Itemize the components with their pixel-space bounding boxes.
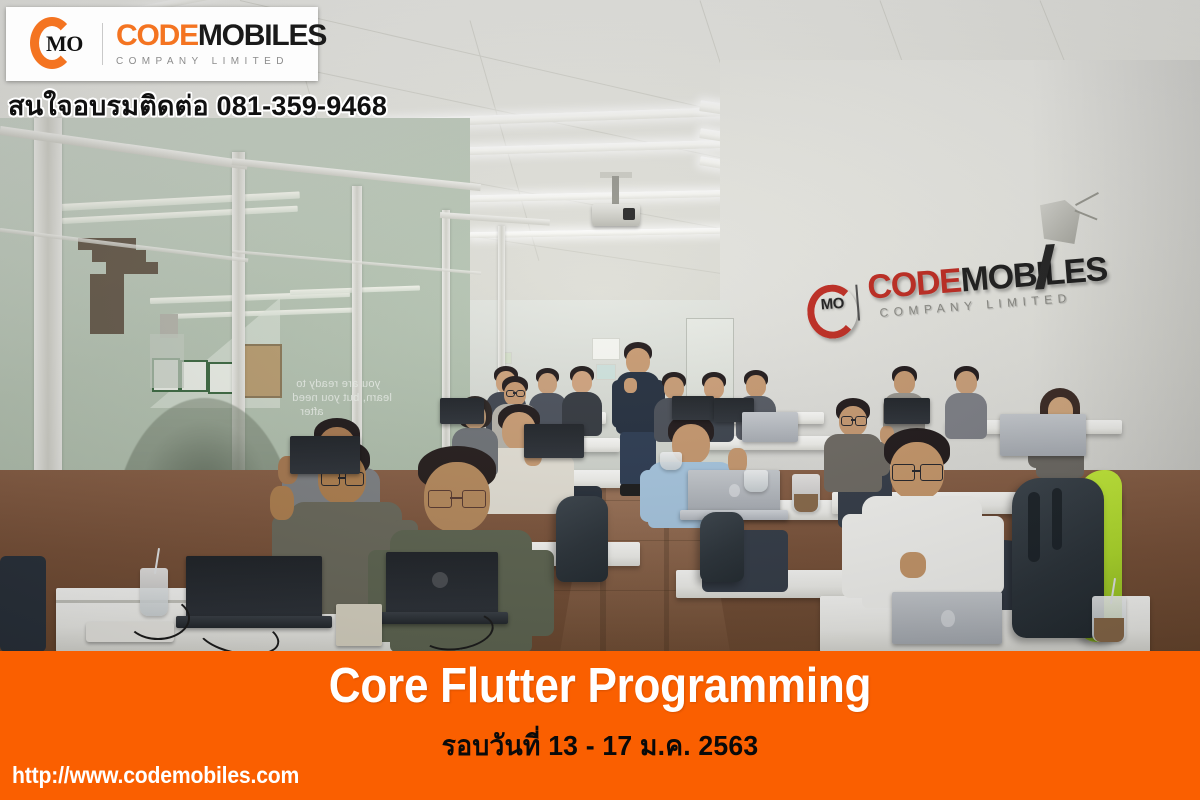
cup-small	[744, 470, 768, 492]
dell-badge-icon	[432, 572, 448, 588]
wall-notice-1	[592, 338, 620, 360]
logo-divider	[102, 23, 103, 65]
drink-liquid	[794, 494, 818, 512]
backpack-aisle-2	[700, 512, 744, 582]
laptop	[186, 556, 322, 618]
backpack-strap	[1052, 488, 1062, 550]
power-adapter	[336, 604, 382, 646]
chair	[0, 556, 46, 652]
logo-name-mobiles: MOBILES	[198, 19, 326, 52]
laptop	[742, 412, 798, 442]
cmo-monogram-icon: MO	[18, 13, 96, 75]
logo-wordmark: CODEMOBILES COMPANY LIMITED	[116, 21, 326, 67]
apple-logo-icon	[941, 610, 955, 627]
laptop	[1000, 414, 1086, 456]
laptop	[440, 398, 484, 424]
wall-notice-2	[596, 364, 616, 380]
apple-logo-icon	[729, 484, 740, 497]
laptop	[672, 396, 714, 420]
logo-name-code: CODE	[116, 19, 198, 52]
laptop	[884, 398, 930, 424]
projector-mount	[612, 176, 619, 206]
logo-name: CODEMOBILES	[116, 21, 326, 51]
title-banner: Core Flutter Programming รอบวันที่ 13 - …	[0, 651, 1200, 800]
glass-decal-text-3: after	[300, 406, 324, 419]
course-title: Core Flutter Programming	[60, 662, 1140, 712]
cup-small	[660, 452, 682, 470]
projector	[592, 204, 640, 226]
cmo-mo-text: MO	[46, 31, 83, 57]
company-logo-box: MO CODEMOBILES COMPANY LIMITED	[6, 7, 318, 81]
laptop	[524, 424, 584, 458]
backpack-aisle	[556, 496, 608, 582]
backpack-strap	[1028, 492, 1040, 562]
website-url[interactable]: http://www.codemobiles.com	[12, 762, 299, 789]
logo-subtitle: COMPANY LIMITED	[116, 56, 326, 67]
laptop	[290, 436, 360, 474]
glass-decal-text-1: you are ready to	[296, 378, 380, 391]
wall-logo-monogram: MO	[820, 295, 844, 314]
cable	[126, 596, 190, 640]
glass-decal-text-2: learn, but you need	[292, 392, 392, 405]
drink-liquid	[1094, 618, 1124, 642]
contact-phone-line: สนใจอบรมติดต่อ 081-359-9468	[8, 84, 387, 127]
promotional-poster: MO CODEMOBILES COMPANY LIMITED	[0, 0, 1200, 800]
